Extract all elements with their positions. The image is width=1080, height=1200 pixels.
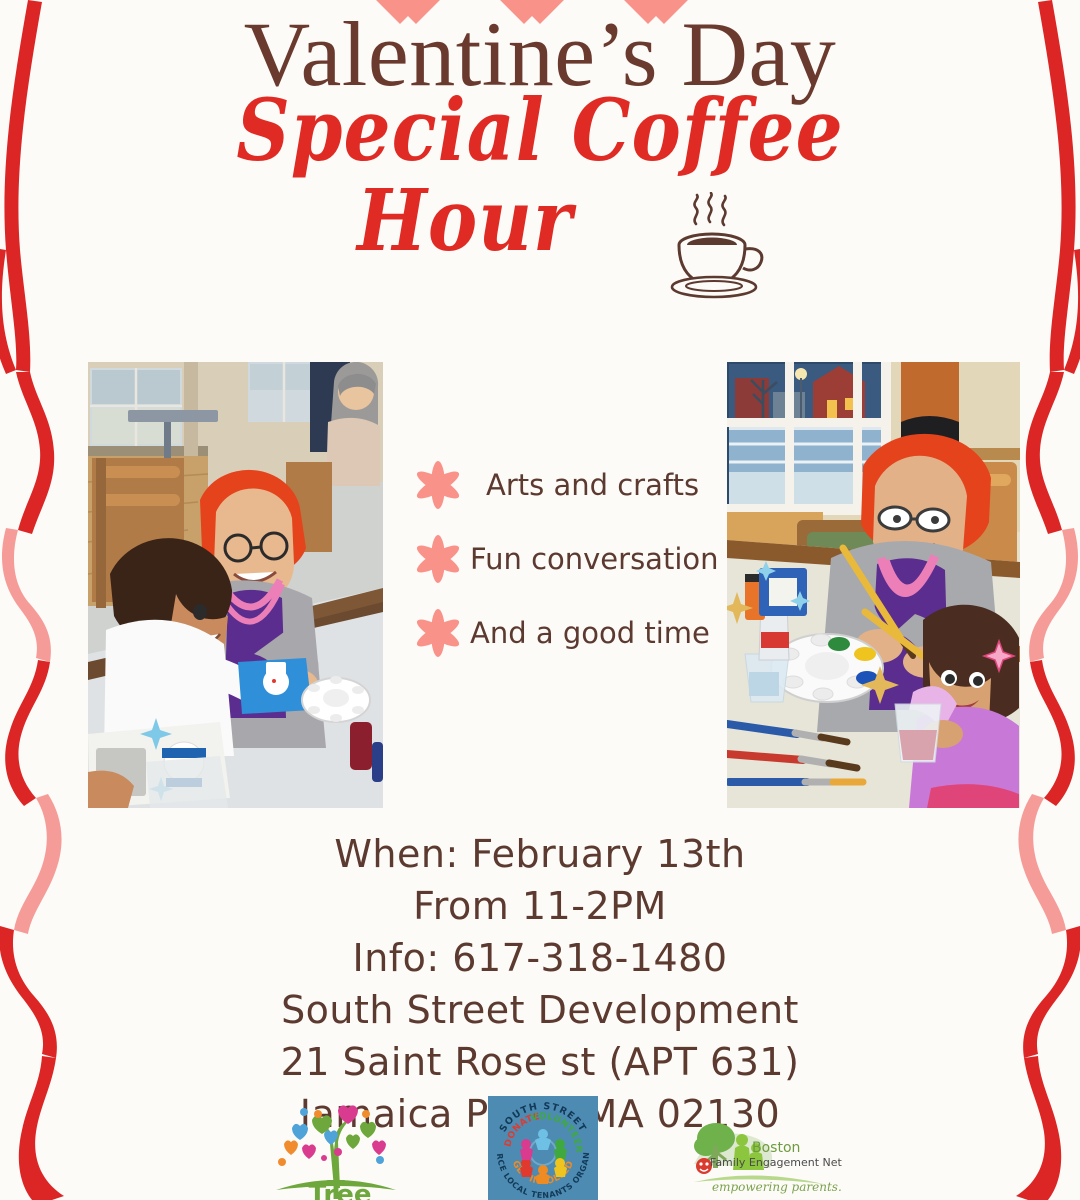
photo-craft-table-left [88, 362, 383, 808]
headline-block: Valentine’s Day Special Coffee Hour [0, 8, 1080, 286]
boston-family-engagement-network-logo: Boston Family Engagement Network empower… [690, 1118, 842, 1200]
script-title-line1: Special Coffee [0, 82, 1080, 181]
detail-venue: South Street Development [0, 984, 1080, 1036]
bfen-subtitle: Family Engagement Network [710, 1156, 842, 1169]
coffee-cup-icon [660, 192, 780, 304]
flower-bullet-icon [412, 459, 464, 511]
list-item-label: And a good time [470, 616, 710, 650]
script-title-line2: Hour [0, 172, 930, 271]
bfen-title: Boston [752, 1140, 800, 1156]
detail-address: 21 Saint Rose st (APT 631) [0, 1036, 1080, 1088]
tree-logo-word: Tree [276, 1180, 404, 1200]
benefits-list: Arts and crafts Fun conversation [412, 448, 722, 670]
flyer-page: Valentine’s Day Special Coffee Hour [0, 0, 1080, 1200]
detail-when: When: February 13th [0, 828, 1080, 880]
script-title-wrap: Special Coffee Hour [0, 96, 1080, 286]
photo-craft-table-right [727, 362, 1020, 808]
list-item: Fun conversation [412, 522, 722, 596]
bfen-tagline: empowering parents... [712, 1180, 842, 1194]
event-details: When: February 13th From 11-2PM Info: 61… [0, 828, 1080, 1140]
logo-row: T Tree SOUTH STREET TASK FORCE LOCAL TEN… [0, 1096, 1080, 1200]
flower-bullet-icon [412, 533, 464, 585]
flower-bullet-icon [412, 607, 464, 659]
tree-of-hearts-logo: T Tree [268, 1100, 404, 1200]
south-street-task-force-logo: SOUTH STREET TASK FORCE LOCAL TENANTS OR… [488, 1096, 598, 1200]
list-item-label: Arts and crafts [486, 468, 699, 502]
list-item: Arts and crafts [412, 448, 722, 522]
list-item: And a good time [412, 596, 722, 670]
list-item-label: Fun conversation [470, 542, 719, 576]
detail-phone: Info: 617-318-1480 [0, 932, 1080, 984]
detail-time: From 11-2PM [0, 880, 1080, 932]
